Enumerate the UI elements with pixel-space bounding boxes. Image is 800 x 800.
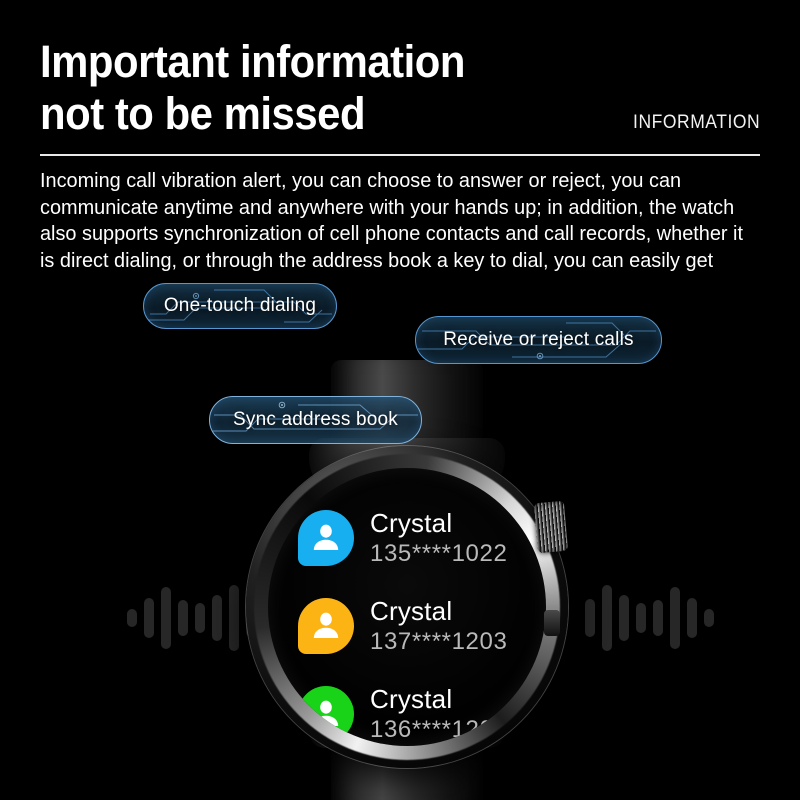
waveform-bar (653, 600, 663, 636)
contact-text: Crystal135****1022 (370, 510, 507, 566)
person-icon (309, 521, 343, 555)
waveform-bar (161, 587, 171, 649)
waveform-bar (687, 598, 697, 638)
waveform-bar (212, 595, 222, 641)
feature-pill-label: Sync address book (233, 409, 398, 431)
waveform-bar (127, 609, 137, 627)
waveform-bar (585, 599, 595, 637)
promo-banner: Important information not to be missed I… (0, 0, 800, 800)
waveform-bar (195, 603, 205, 633)
page-title: Important information not to be missed (40, 36, 617, 140)
contact-text: Crystal136****1203 (370, 686, 507, 742)
contact-phone-number: 137****1203 (370, 630, 507, 654)
waveform-bar (670, 587, 680, 649)
waveform-bar (704, 609, 714, 627)
header-divider (40, 154, 760, 156)
watch-screen[interactable]: Crystal135****1022Crystal137****1203Crys… (268, 468, 546, 746)
contact-phone-number: 136****1203 (370, 718, 507, 742)
waveform-bar (144, 598, 154, 638)
contact-row[interactable]: Crystal137****1203 (268, 582, 546, 670)
audio-waveform-right (585, 572, 714, 664)
contact-text: Crystal137****1203 (370, 598, 507, 654)
waveform-bar (178, 600, 188, 636)
contact-avatar (298, 510, 354, 566)
feature-pill-label: One-touch dialing (164, 295, 316, 317)
feature-pill-sync-address-book[interactable]: Sync address book (209, 396, 422, 444)
section-kicker: INFORMATION (633, 112, 760, 134)
feature-pill-label: Receive or reject calls (443, 329, 633, 351)
person-icon (309, 697, 343, 731)
contact-name: Crystal (370, 510, 507, 536)
watch-case: Crystal135****1022Crystal137****1203Crys… (246, 446, 568, 768)
contact-phone-number: 135****1022 (370, 542, 507, 566)
contact-row[interactable]: Crystal135****1022 (268, 494, 546, 582)
watch-side-button[interactable] (544, 610, 560, 636)
waveform-bar (636, 603, 646, 633)
waveform-bar (619, 595, 629, 641)
waveform-bar (602, 585, 612, 651)
contact-list[interactable]: Crystal135****1022Crystal137****1203Crys… (268, 468, 546, 746)
feature-pill-one-touch-dialing[interactable]: One-touch dialing (143, 283, 337, 329)
contact-avatar (298, 686, 354, 742)
contact-avatar (298, 598, 354, 654)
watch-crown-button[interactable] (534, 501, 568, 553)
contact-row[interactable]: Crystal136****1203 (268, 670, 546, 746)
contact-name: Crystal (370, 598, 507, 624)
description-paragraph: Incoming call vibration alert, you can c… (40, 168, 744, 274)
contact-name: Crystal (370, 686, 507, 712)
feature-pill-receive-or-reject-calls[interactable]: Receive or reject calls (415, 316, 662, 364)
person-icon (309, 609, 343, 643)
